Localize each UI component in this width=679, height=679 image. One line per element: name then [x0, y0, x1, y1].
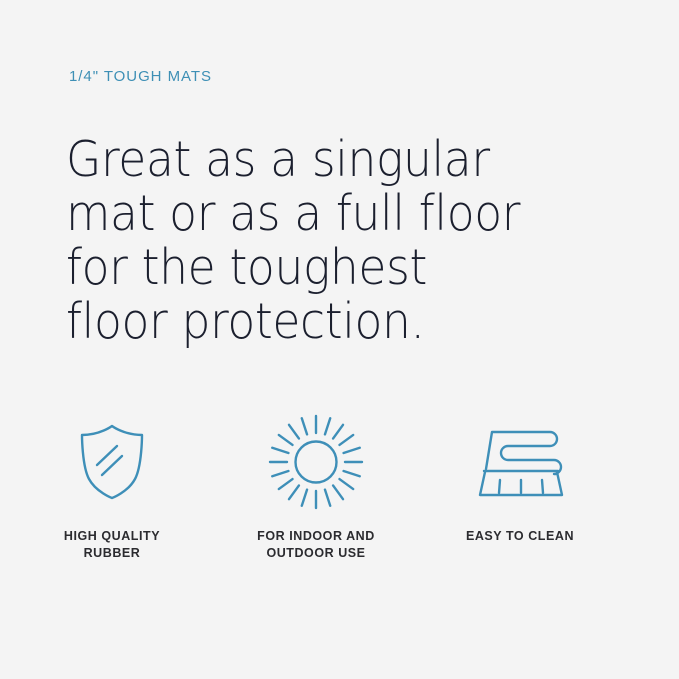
- promo-banner: 1/4" TOUGH MATS Great as a singular mat …: [0, 0, 679, 679]
- headline-line-2: mat or as a full floor: [66, 187, 550, 241]
- sun-icon: [266, 408, 366, 516]
- headline-line-4: floor protection.: [66, 295, 550, 349]
- feature-item-easy-to-clean: EASY TO CLEAN: [418, 408, 622, 545]
- feature-list: HIGH QUALITY RUBBER: [0, 408, 679, 562]
- feature-label: EASY TO CLEAN: [466, 528, 574, 545]
- page-title: Great as a singular mat or as a full flo…: [66, 133, 586, 349]
- headline-line-1: Great as a singular: [66, 133, 550, 187]
- feature-label-line-2: OUTDOOR USE: [257, 545, 375, 562]
- feature-label-line-1: FOR INDOOR AND: [257, 528, 375, 545]
- scrub-brush-icon: [472, 408, 568, 516]
- feature-label-line-1: HIGH QUALITY: [64, 528, 160, 545]
- eyebrow-label: 1/4" TOUGH MATS: [69, 68, 212, 85]
- feature-item-high-quality-rubber: HIGH QUALITY RUBBER: [10, 408, 214, 562]
- feature-item-indoor-outdoor-use: FOR INDOOR AND OUTDOOR USE: [214, 408, 418, 562]
- feature-label-line-1: EASY TO CLEAN: [466, 528, 574, 545]
- feature-label-line-2: RUBBER: [64, 545, 160, 562]
- feature-label: HIGH QUALITY RUBBER: [64, 528, 160, 562]
- shield-icon: [77, 408, 147, 516]
- feature-label: FOR INDOOR AND OUTDOOR USE: [257, 528, 375, 562]
- headline-line-3: for the toughest: [66, 241, 550, 295]
